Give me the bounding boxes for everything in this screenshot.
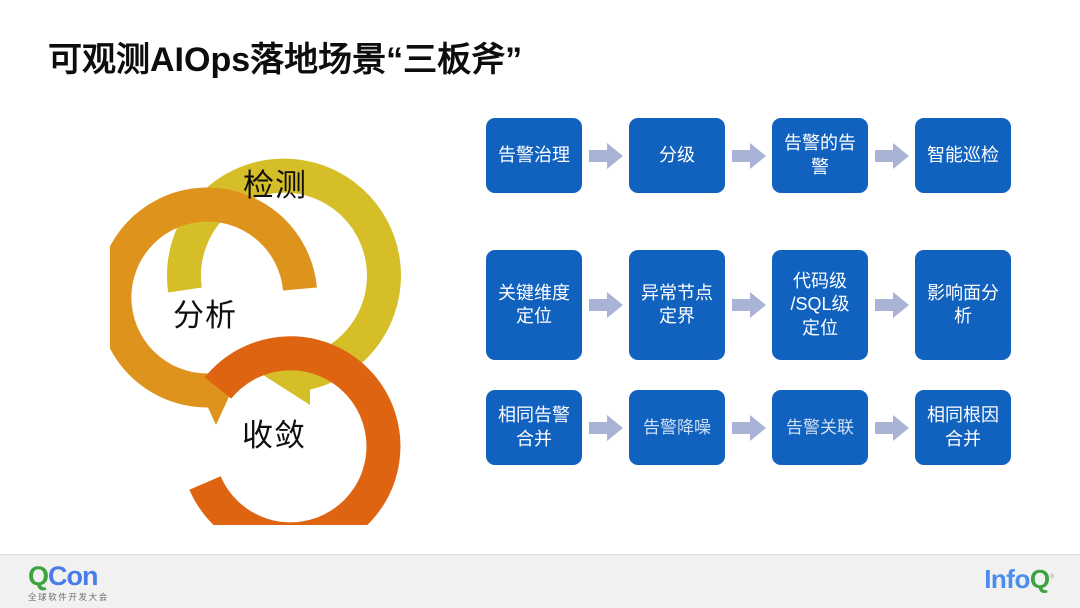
flow-arrow-icon bbox=[582, 141, 629, 171]
flow-box[interactable]: 告警关联 bbox=[772, 390, 868, 465]
flow-box[interactable]: 告警的告 警 bbox=[772, 118, 868, 193]
qcon-q-letter: Q bbox=[28, 561, 48, 591]
flow-box-label: 影响面分 析 bbox=[927, 282, 999, 328]
flow-box[interactable]: 异常节点 定界 bbox=[629, 250, 725, 360]
page-title: 可观测AIOps落地场景“三板斧” bbox=[48, 32, 522, 81]
flow-box[interactable]: 相同根因 合并 bbox=[915, 390, 1011, 465]
cycle-label-detect: 检测 bbox=[243, 160, 307, 205]
flow-arrow-icon bbox=[868, 141, 915, 171]
flow-arrow-icon bbox=[725, 141, 772, 171]
cycle-diagram: 检测 分析 收敛 bbox=[110, 85, 420, 525]
flow-arrow-icon bbox=[582, 290, 629, 320]
flow-box-label: 相同告警 合并 bbox=[498, 404, 570, 450]
flow-box-label: 关键维度 定位 bbox=[498, 282, 570, 328]
flow-box[interactable]: 分级 bbox=[629, 118, 725, 193]
cycle-label-analyze: 分析 bbox=[173, 290, 237, 335]
flow-arrow-icon bbox=[725, 413, 772, 443]
flow-grid: 告警治理 分级 告警的告 警 bbox=[486, 118, 1011, 465]
flow-box-label: 异常节点 定界 bbox=[641, 282, 713, 328]
flow-box[interactable]: 告警治理 bbox=[486, 118, 582, 193]
flow-box-label: 智能巡检 bbox=[927, 144, 999, 167]
infoq-q-letter: Q bbox=[1030, 564, 1050, 594]
flow-arrow-icon bbox=[582, 413, 629, 443]
infoq-trademark-icon: ® bbox=[1050, 574, 1054, 580]
qcon-con-letters: Con bbox=[48, 561, 97, 591]
flow-box[interactable]: 告警降噪 bbox=[629, 390, 725, 465]
flow-box-label: 相同根因 合并 bbox=[927, 404, 999, 450]
flow-row-root-cause: 关键维度 定位 异常节点 定界 代码级 /SQL级 定位 bbox=[486, 250, 1011, 360]
cycle-label-converge: 收敛 bbox=[242, 410, 306, 455]
flow-box-label: 告警降噪 bbox=[643, 417, 711, 439]
flow-box[interactable]: 影响面分 析 bbox=[915, 250, 1011, 360]
qcon-tagline: 全球软件开发大会 bbox=[28, 593, 109, 602]
flow-row-alert-governance: 告警治理 分级 告警的告 警 bbox=[486, 118, 1011, 193]
infoq-info-letters: Info bbox=[984, 564, 1030, 594]
flow-box[interactable]: 智能巡检 bbox=[915, 118, 1011, 193]
qcon-wordmark: QCon bbox=[28, 563, 109, 590]
flow-arrow-icon bbox=[868, 290, 915, 320]
flow-box-label: 分级 bbox=[659, 144, 695, 167]
flow-arrow-icon bbox=[725, 290, 772, 320]
flow-box[interactable]: 代码级 /SQL级 定位 bbox=[772, 250, 868, 360]
footer-bar: QCon 全球软件开发大会 InfoQ® bbox=[0, 554, 1080, 608]
flow-box-label: 告警治理 bbox=[498, 144, 570, 167]
slide-canvas: 可观测AIOps落地场景“三板斧” 检测 分析 收敛 bbox=[0, 0, 1080, 608]
infoq-logo: InfoQ® bbox=[984, 566, 1054, 592]
flow-box-label: 代码级 /SQL级 定位 bbox=[790, 270, 849, 339]
cycle-diagram-graphic bbox=[110, 85, 420, 525]
flow-box[interactable]: 关键维度 定位 bbox=[486, 250, 582, 360]
flow-arrow-icon bbox=[868, 413, 915, 443]
qcon-logo: QCon 全球软件开发大会 bbox=[28, 563, 109, 602]
flow-box[interactable]: 相同告警 合并 bbox=[486, 390, 582, 465]
flow-box-label: 告警的告 警 bbox=[784, 132, 856, 178]
flow-box-label: 告警关联 bbox=[786, 417, 854, 439]
flow-row-alert-convergence: 相同告警 合并 告警降噪 告警关联 bbox=[486, 390, 1011, 465]
